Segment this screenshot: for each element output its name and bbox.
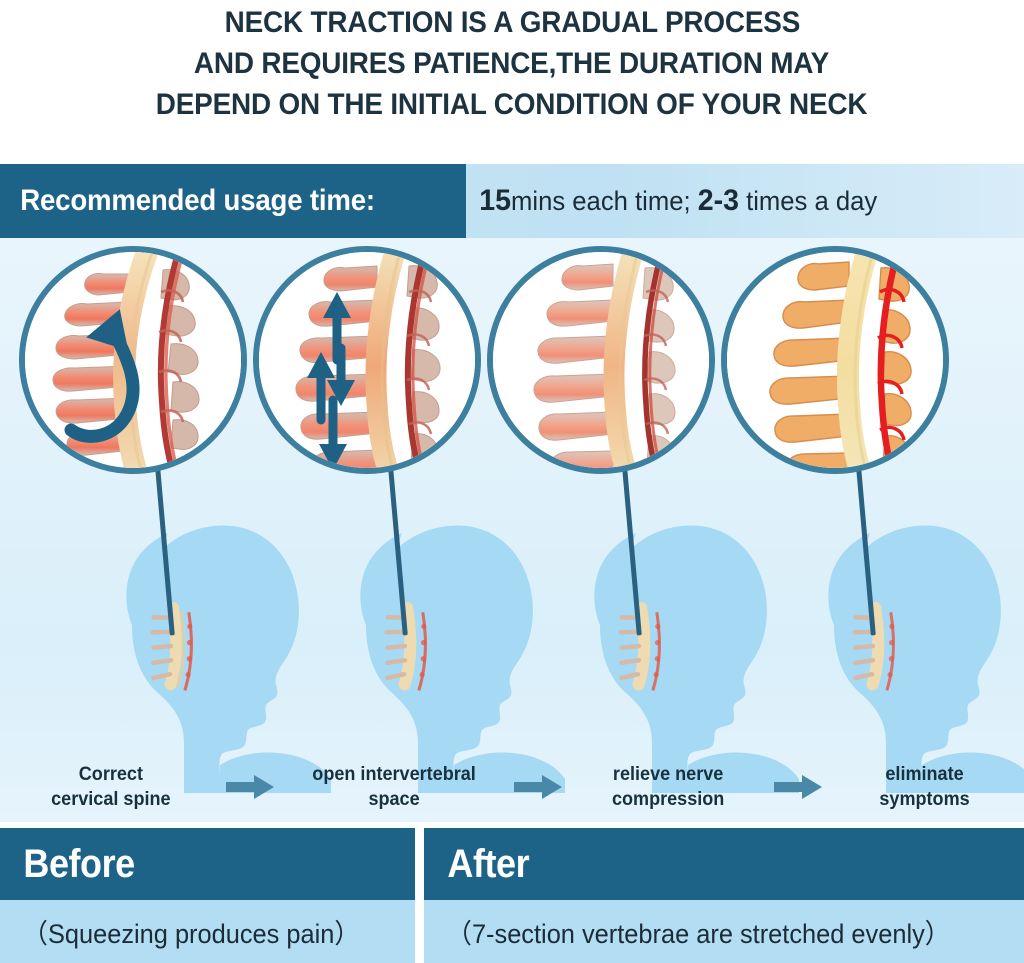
headline-line-1: NECK TRACTION IS A GRADUAL PROCESS: [224, 2, 799, 43]
flow-arrow-2: [510, 774, 566, 800]
flow-label-relieve-nerve-compression: relieve nerve compression: [612, 762, 724, 812]
headline-block: NECK TRACTION IS A GRADUAL PROCESS AND R…: [0, 0, 1024, 152]
usage-label-block: Recommended usage time:: [0, 164, 466, 238]
flow-label-eliminate-symptoms: eliminate symptoms: [880, 762, 970, 812]
flow-label-correct-cervical-spine: Correct cervical spine: [51, 762, 170, 812]
infographic-page: NECK TRACTION IS A GRADUAL PROCESS AND R…: [0, 0, 1024, 963]
usage-frequency-unit: times a day: [739, 186, 877, 216]
usage-frequency-value: 2-3: [698, 184, 739, 217]
after-caption: （7-section vertebrae are stretched evenl…: [424, 912, 950, 951]
head-silhouette-2: [330, 493, 565, 793]
illustration-stage: [0, 238, 1024, 822]
head-silhouette-1: [96, 493, 331, 793]
illustration-circle-open-intervertebral-space: [253, 246, 481, 474]
head-silhouette-4: [798, 493, 1024, 793]
before-caption-bar: （Squeezing produces pain）: [0, 900, 415, 963]
after-heading-bar: After: [424, 828, 1024, 900]
usage-value-block: 15mins each time; 2-3 times a day: [466, 164, 1024, 238]
recommended-usage-banner: Recommended usage time: 15mins each time…: [0, 164, 1024, 238]
flow-arrow-1: [222, 774, 278, 800]
process-flow-labels: Correct cervical spine open intervertebr…: [0, 752, 1024, 822]
head-silhouette-3: [564, 493, 799, 793]
headline-line-3: DEPEND ON THE INITIAL CONDITION OF YOUR …: [156, 84, 868, 125]
after-heading: After: [424, 842, 529, 887]
illustration-circle-eliminate-symptoms: [721, 246, 949, 474]
right-arrow-icon: [514, 774, 562, 800]
after-caption-bar: （7-section vertebrae are stretched evenl…: [424, 900, 1024, 963]
usage-duration-unit: mins each time;: [511, 186, 698, 216]
usage-duration-value: 15: [479, 184, 511, 217]
usage-value: 15mins each time; 2-3 times a day: [466, 184, 877, 218]
before-after-comparison: Before （Squeezing produces pain） After （…: [0, 828, 1024, 963]
before-panel: Before （Squeezing produces pain）: [0, 828, 415, 963]
usage-label: Recommended usage time:: [0, 184, 375, 218]
flow-arrow-3: [770, 774, 826, 800]
before-heading-bar: Before: [0, 828, 415, 900]
illustration-circle-relieve-nerve-compression: [487, 246, 715, 474]
right-arrow-icon: [774, 774, 822, 800]
after-panel: After （7-section vertebrae are stretched…: [424, 828, 1024, 963]
before-caption: （Squeezing produces pain）: [0, 912, 360, 951]
flow-label-open-intervertebral-space: open intervertebral space: [312, 762, 476, 812]
headline-line-2: AND REQUIRES PATIENCE,THE DURATION MAY: [194, 43, 829, 84]
before-heading: Before: [0, 842, 135, 887]
right-arrow-icon: [226, 774, 274, 800]
illustration-circle-correct-cervical-spine: [19, 246, 247, 474]
